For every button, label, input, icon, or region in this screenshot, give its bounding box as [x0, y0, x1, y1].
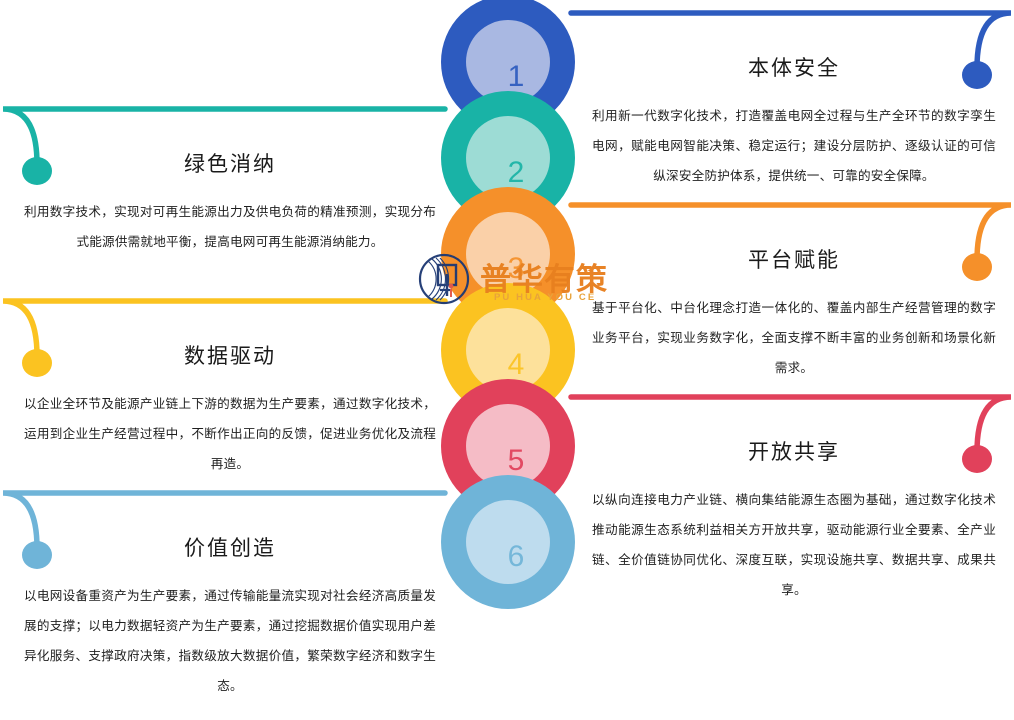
step-title-6: 价值创造 [24, 538, 436, 559]
step-title-4: 数据驱动 [24, 346, 436, 367]
step-text-block-5: 开放共享以纵向连接电力产业链、横向集结能源生态圈为基础，通过数字化技术推动能源生… [592, 442, 996, 605]
step-body-2: 利用数字技术，实现对可再生能源出力及供电负荷的精准预测，实现分布式能源供需就地平… [24, 197, 436, 257]
step-body-6: 以电网设备重资产为生产要素，通过传输能量流实现对社会经济高质量发展的支撑；以电力… [24, 581, 436, 701]
step-title-2: 绿色消纳 [24, 154, 436, 175]
step-body-3: 基于平台化、中台化理念打造一体化的、覆盖内部生产经营管理的数字业务平台，实现业务… [592, 293, 996, 383]
step-text-block-4: 数据驱动以企业全环节及能源产业链上下游的数据为生产要素，通过数字化技术，运用到企… [24, 346, 436, 479]
step-body-5: 以纵向连接电力产业链、横向集结能源生态圈为基础，通过数字化技术推动能源生态系统利… [592, 485, 996, 605]
step-text-block-6: 价值创造以电网设备重资产为生产要素，通过传输能量流实现对社会经济高质量发展的支撑… [24, 538, 436, 701]
step-title-1: 本体安全 [592, 58, 996, 79]
step-number-2: 2 [508, 156, 525, 189]
step-title-5: 开放共享 [592, 442, 996, 463]
step-body-1: 利用新一代数字化技术，打造覆盖电网全过程与生产全环节的数字孪生电网，赋能电网智能… [592, 101, 996, 191]
infographic-canvas: 123456 普华有策 PU HUA YOU CE 本体安全利用新一代数字化技术… [0, 0, 1014, 720]
step-number-5: 5 [508, 444, 525, 477]
step-text-block-1: 本体安全利用新一代数字化技术，打造覆盖电网全过程与生产全环节的数字孪生电网，赋能… [592, 58, 996, 191]
step-number-3: 3 [508, 252, 525, 285]
step-number-6: 6 [508, 540, 525, 573]
step-body-4: 以企业全环节及能源产业链上下游的数据为生产要素，通过数字化技术，运用到企业生产经… [24, 389, 436, 479]
step-number-4: 4 [508, 348, 525, 381]
step-number-1: 1 [508, 60, 525, 93]
step-text-block-2: 绿色消纳利用数字技术，实现对可再生能源出力及供电负荷的精准预测，实现分布式能源供… [24, 154, 436, 257]
step-text-block-3: 平台赋能基于平台化、中台化理念打造一体化的、覆盖内部生产经营管理的数字业务平台，… [592, 250, 996, 383]
watermark-pinyin: PU HUA YOU CE [494, 292, 596, 303]
step-title-3: 平台赋能 [592, 250, 996, 271]
